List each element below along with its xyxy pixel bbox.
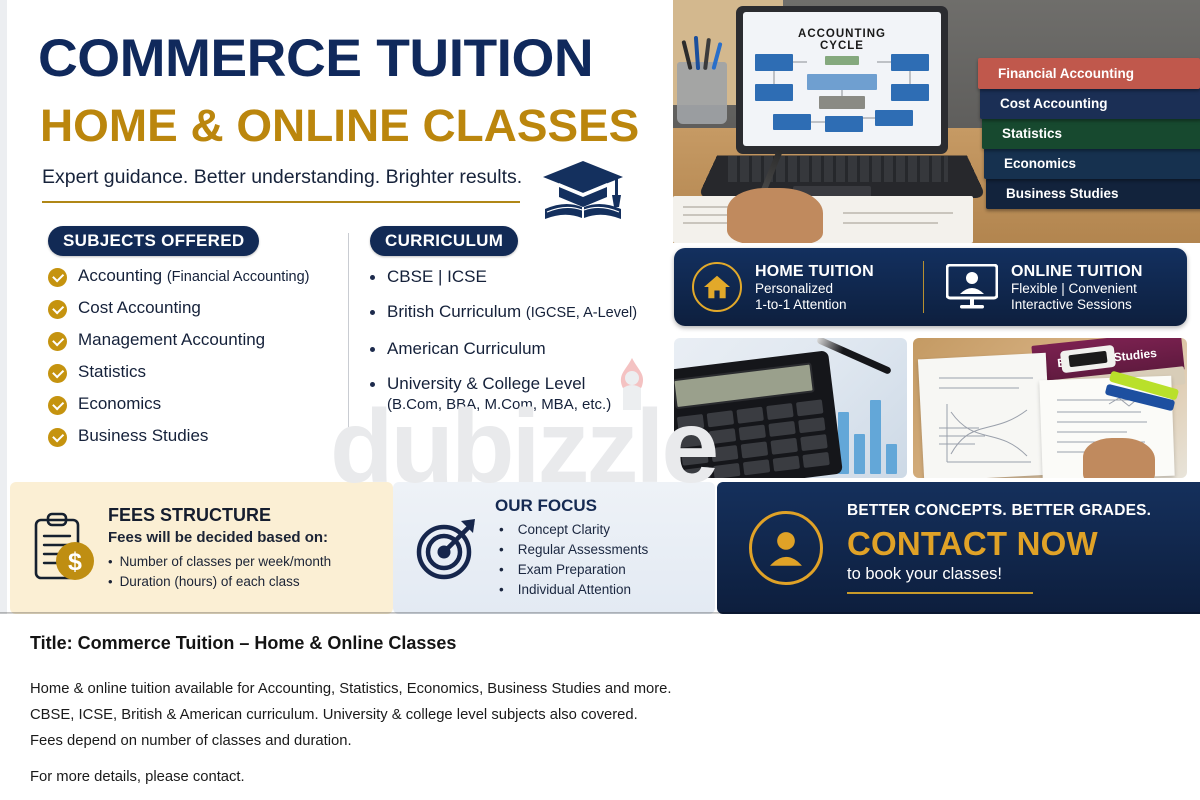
book-spine: Cost Accounting bbox=[980, 88, 1200, 119]
focus-item-label: Concept Clarity bbox=[518, 520, 610, 540]
check-icon bbox=[48, 428, 67, 447]
home-tuition-title: HOME TUITION bbox=[755, 262, 874, 281]
description-line-1: Home & online tuition available for Acco… bbox=[30, 676, 672, 702]
contact-card[interactable]: BETTER CONCEPTS. BETTER GRADES. CONTACT … bbox=[717, 482, 1200, 614]
fees-text-block: FEES STRUCTURE Fees will be decided base… bbox=[108, 505, 331, 592]
curriculum-label: British Curriculum (IGCSE, A-Level) bbox=[387, 301, 637, 324]
focus-list-item: •Concept Clarity bbox=[495, 520, 648, 540]
subjects-badge: SUBJECTS OFFERED bbox=[48, 226, 259, 256]
subject-item: Statistics bbox=[48, 362, 348, 384]
home-tuition-line1: Personalized bbox=[755, 281, 874, 297]
curriculum-label: CBSE | ICSE bbox=[387, 266, 487, 287]
fees-subtitle: Fees will be decided based on: bbox=[108, 529, 331, 546]
focus-item-label: Exam Preparation bbox=[518, 560, 626, 580]
contact-subline: to book your classes! bbox=[847, 565, 1151, 584]
contact-now-headline[interactable]: CONTACT NOW bbox=[847, 525, 1151, 563]
curriculum-item: CBSE | ICSE bbox=[370, 266, 670, 287]
curriculum-item: American Curriculum bbox=[370, 338, 670, 359]
subject-item: Management Accounting bbox=[48, 330, 348, 352]
notebook-study-photo: Business Studies bbox=[913, 338, 1187, 478]
bullet-icon: • bbox=[499, 520, 504, 540]
online-tuition-title: ONLINE TUITION bbox=[1011, 262, 1143, 281]
clipboard-dollar-icon: $ bbox=[32, 512, 94, 584]
subject-label: Business Studies bbox=[78, 426, 208, 446]
home-icon bbox=[692, 262, 742, 312]
description-line-3: Fees depend on number of classes and dur… bbox=[30, 728, 352, 754]
focus-item-label: Regular Assessments bbox=[518, 540, 649, 560]
book-stack: Financial AccountingCost AccountingStati… bbox=[978, 58, 1200, 238]
bullet-icon: • bbox=[108, 572, 113, 592]
fees-title: FEES STRUCTURE bbox=[108, 505, 331, 526]
subject-label: Statistics bbox=[78, 362, 146, 382]
bullet-icon bbox=[370, 275, 375, 280]
poster-bottom-shadow bbox=[0, 612, 1200, 614]
fees-items-list: •Number of classes per week/month•Durati… bbox=[108, 552, 331, 592]
check-icon bbox=[48, 396, 67, 415]
subject-label: Management Accounting bbox=[78, 330, 265, 350]
contact-underline bbox=[847, 592, 1033, 595]
bullet-icon: • bbox=[499, 540, 504, 560]
book-spine: Business Studies bbox=[986, 178, 1200, 209]
book-spine: Economics bbox=[984, 148, 1200, 179]
page-title: COMMERCE TUITION bbox=[38, 28, 593, 89]
poster-page: COMMERCE TUITION HOME & ONLINE CLASSES E… bbox=[0, 0, 1200, 800]
fees-item-label: Duration (hours) of each class bbox=[120, 572, 300, 592]
tagline: Expert guidance. Better understanding. B… bbox=[42, 166, 522, 189]
bullet-icon bbox=[370, 347, 375, 352]
watermark-flame-icon bbox=[612, 358, 652, 414]
listing-description: Title: Commerce Tuition – Home & Online … bbox=[0, 616, 1200, 800]
check-icon bbox=[48, 300, 67, 319]
person-circle-icon bbox=[749, 511, 823, 585]
check-icon bbox=[48, 364, 67, 383]
bullet-icon: • bbox=[499, 580, 504, 600]
poster-graphic: COMMERCE TUITION HOME & ONLINE CLASSES E… bbox=[0, 0, 1200, 614]
focus-text-block: OUR FOCUS •Concept Clarity•Regular Asses… bbox=[495, 496, 648, 600]
poster-media-column: ACCOUNTING CYCLE bbox=[673, 0, 1200, 478]
bullet-icon: • bbox=[108, 552, 113, 572]
description-line-4: For more details, please contact. bbox=[30, 764, 245, 790]
svg-text:$: $ bbox=[68, 548, 82, 576]
bullet-icon bbox=[370, 382, 375, 387]
page-subtitle: HOME & ONLINE CLASSES bbox=[40, 100, 639, 152]
fees-item-label: Number of classes per week/month bbox=[120, 552, 332, 572]
focus-list-item: •Regular Assessments bbox=[495, 540, 648, 560]
tuition-info-bar: HOME TUITION Personalized 1-to-1 Attenti… bbox=[674, 248, 1187, 326]
graduation-cap-icon bbox=[537, 157, 629, 219]
target-arrow-icon bbox=[415, 516, 479, 580]
contact-text-block: BETTER CONCEPTS. BETTER GRADES. CONTACT … bbox=[847, 502, 1151, 595]
online-tuition-block: ONLINE TUITION Flexible | Convenient Int… bbox=[928, 262, 1143, 313]
curriculum-item: British Curriculum (IGCSE, A-Level) bbox=[370, 301, 670, 324]
check-icon bbox=[48, 268, 67, 287]
subject-label: Economics bbox=[78, 394, 161, 414]
online-tuition-line2: Interactive Sessions bbox=[1011, 297, 1143, 313]
fees-list-item: •Duration (hours) of each class bbox=[108, 572, 331, 592]
home-tuition-block: HOME TUITION Personalized 1-to-1 Attenti… bbox=[674, 262, 919, 313]
gold-divider bbox=[42, 201, 520, 203]
focus-list-item: •Exam Preparation bbox=[495, 560, 648, 580]
subject-label: Cost Accounting bbox=[78, 298, 201, 318]
focus-list-item: •Individual Attention bbox=[495, 580, 648, 600]
online-tuition-line1: Flexible | Convenient bbox=[1011, 281, 1143, 297]
subject-label: Accounting (Financial Accounting) bbox=[78, 266, 310, 287]
info-bar-divider bbox=[923, 261, 924, 313]
watermark: dubizzle bbox=[330, 388, 716, 507]
monitor-user-icon bbox=[946, 264, 998, 310]
fees-list-item: •Number of classes per week/month bbox=[108, 552, 331, 572]
bullet-icon: • bbox=[499, 560, 504, 580]
focus-items-list: •Concept Clarity•Regular Assessments•Exa… bbox=[495, 520, 648, 600]
curriculum-label: American Curriculum bbox=[387, 338, 546, 359]
home-tuition-line2: 1-to-1 Attention bbox=[755, 297, 874, 313]
subject-item: Cost Accounting bbox=[48, 298, 348, 320]
book-spine: Financial Accounting bbox=[978, 58, 1200, 89]
subject-item: Business Studies bbox=[48, 426, 348, 448]
focus-item-label: Individual Attention bbox=[518, 580, 631, 600]
check-icon bbox=[48, 332, 67, 351]
contact-tagline: BETTER CONCEPTS. BETTER GRADES. bbox=[847, 502, 1151, 520]
description-title: Title: Commerce Tuition – Home & Online … bbox=[30, 633, 456, 654]
subjects-list: Accounting (Financial Accounting)Cost Ac… bbox=[48, 266, 348, 458]
description-line-2: CBSE, ICSE, British & American curriculu… bbox=[30, 702, 638, 728]
subject-item: Accounting (Financial Accounting) bbox=[48, 266, 348, 288]
book-spine: Statistics bbox=[982, 118, 1200, 149]
curriculum-badge: CURRICULUM bbox=[370, 226, 518, 256]
subject-item: Economics bbox=[48, 394, 348, 416]
bullet-icon bbox=[370, 310, 375, 315]
